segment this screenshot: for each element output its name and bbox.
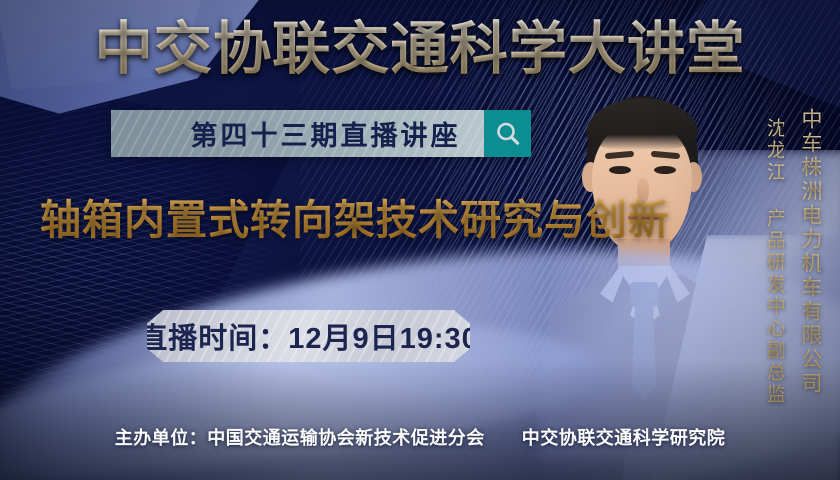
footer-organizers: 主办单位：中国交通运输协会新技术促进分会 中交协联交通科学研究院 <box>0 424 840 450</box>
page-title: 中交协联交通科学大讲堂 <box>0 16 840 82</box>
speaker-company: 中车株洲电力机车有限公司 <box>800 108 821 396</box>
footer-organizer-label: 主办单位：中国交通运输协会新技术促进分会 <box>115 428 485 448</box>
live-lecture-poster: 中交协联交通科学大讲堂 中交协联交通科学大讲堂 第四十三期直播讲座 轴箱内置式转… <box>0 0 840 480</box>
episode-banner[interactable]: 第四十三期直播讲座 <box>111 110 531 157</box>
broadcast-time-pill: 直播时间：12月9日19:30 <box>147 310 470 362</box>
search-icon[interactable] <box>484 110 531 157</box>
episode-banner-body: 第四十三期直播讲座 <box>111 110 484 157</box>
broadcast-time-text: 直播时间：12月9日19:30 <box>147 315 470 357</box>
lecture-title: 轴箱内置式转向架技术研究与创新 <box>40 196 670 244</box>
speaker-name-role: 沈龙江 产品研发中心副总监 <box>765 118 784 406</box>
episode-banner-label: 第四十三期直播讲座 <box>135 114 461 153</box>
footer-institute: 中交协联交通科学研究院 <box>522 428 726 448</box>
